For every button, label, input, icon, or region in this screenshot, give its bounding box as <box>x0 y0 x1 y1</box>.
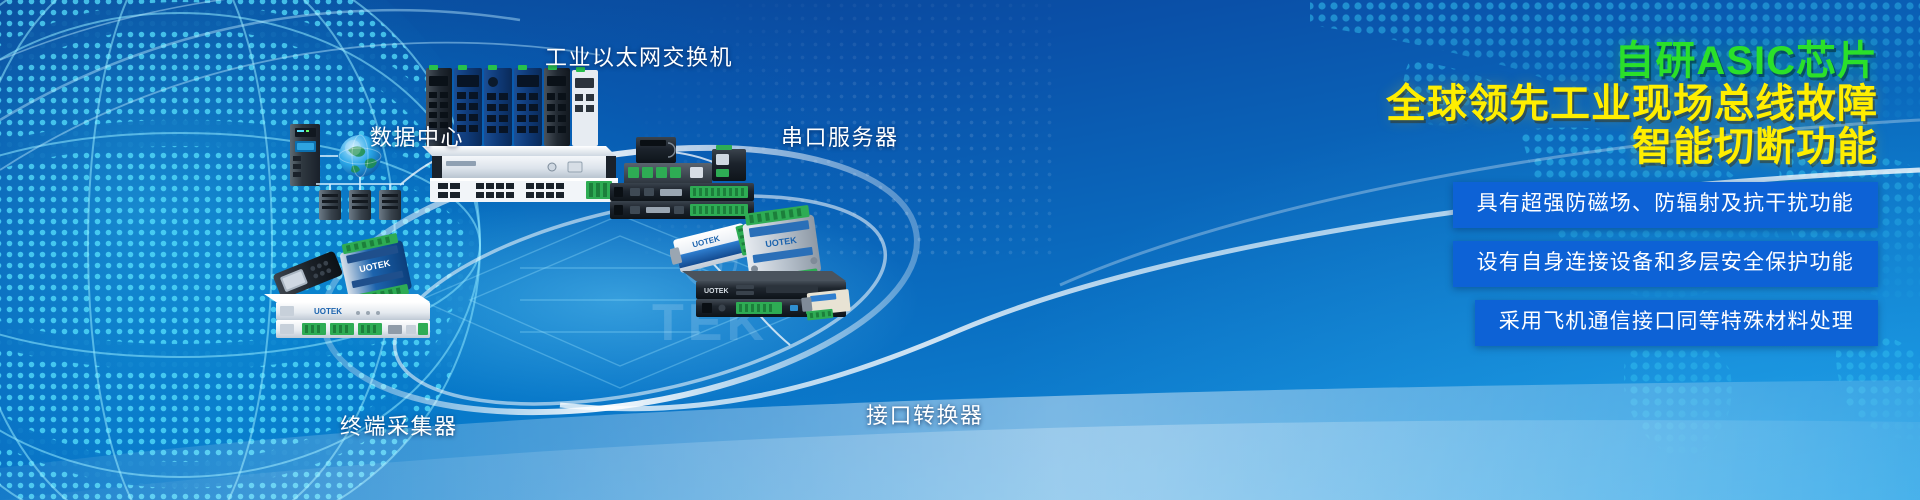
product-banner: TEK <box>0 0 1920 500</box>
svg-text:UOTEK: UOTEK <box>704 288 729 295</box>
headline-line-2: 全球领先工业现场总线故障 <box>1178 83 1878 126</box>
feature-bullet-1: 具有超强防磁场、防辐射及抗干扰功能 <box>1453 182 1878 228</box>
label-data-center: 数据中心 <box>370 120 464 152</box>
interface-converter-device-group: UOTEK UOTEK <box>670 205 860 330</box>
headline: 自研ASIC芯片 全球领先工业现场总线故障 智能切断功能 <box>1178 40 1878 169</box>
feature-bullet-2: 设有自身连接设备和多层安全保护功能 <box>1453 241 1878 287</box>
headline-line-1: 自研ASIC芯片 <box>1178 40 1878 83</box>
terminal-collector-device-group: UOTEK UOTEK <box>258 232 438 342</box>
label-industrial-ethernet-switch: 工业以太网交换机 <box>545 40 733 72</box>
headline-line-3: 智能切断功能 <box>1178 126 1878 169</box>
feature-bullet-3: 采用飞机通信接口同等特殊材料处理 <box>1475 300 1878 346</box>
label-terminal-collector: 终端采集器 <box>340 409 458 441</box>
svg-text:UOTEK: UOTEK <box>314 307 342 316</box>
feature-bullet-list: 具有超强防磁场、防辐射及抗干扰功能 设有自身连接设备和多层安全保护功能 采用飞机… <box>1178 182 1878 346</box>
label-interface-converter: 接口转换器 <box>866 398 984 430</box>
label-serial-server: 串口服务器 <box>781 120 899 152</box>
